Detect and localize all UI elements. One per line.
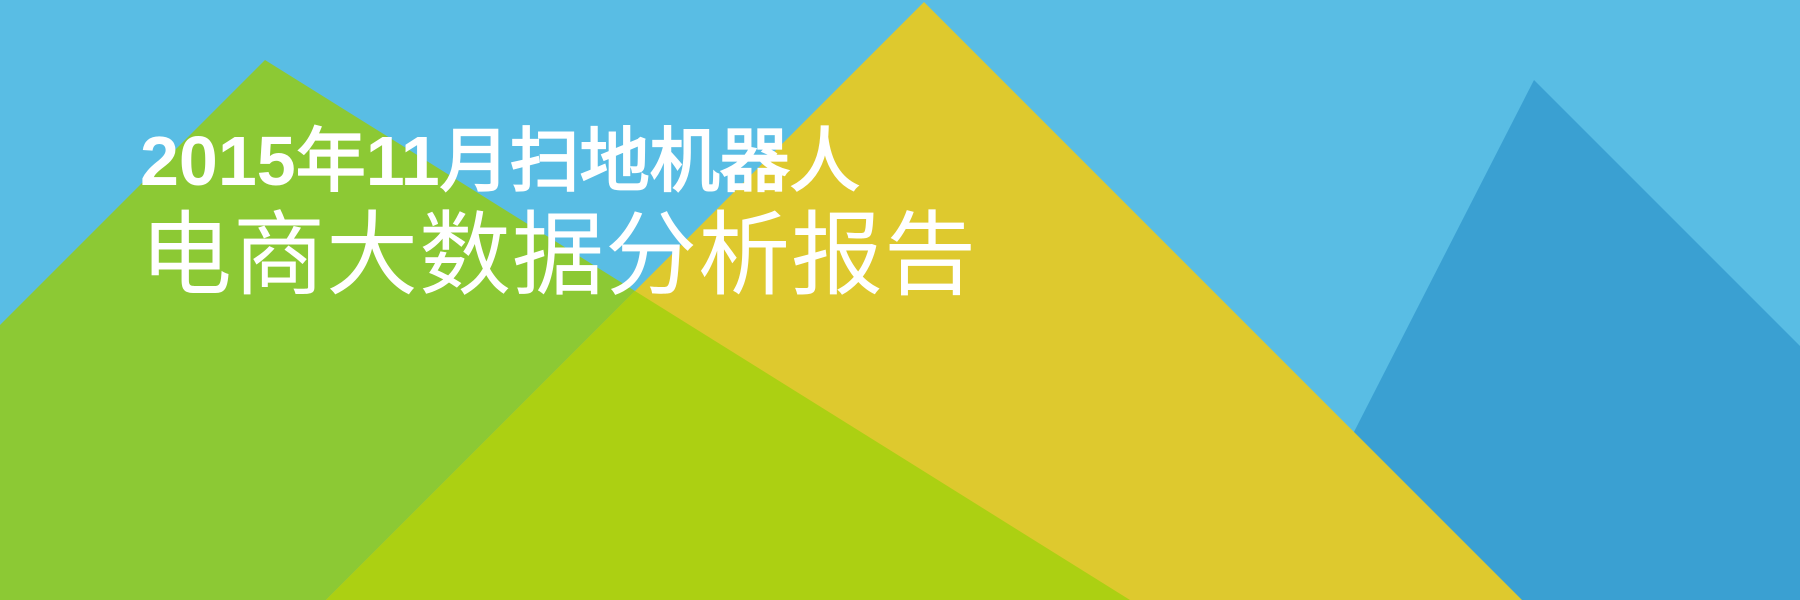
banner-title-line-2: 电商大数据分析报告 (140, 210, 977, 302)
report-cover-banner: 2015年11月扫地机器人 电商大数据分析报告 (0, 0, 1800, 600)
banner-title-line-1: 2015年11月扫地机器人 (140, 126, 977, 196)
banner-title-block: 2015年11月扫地机器人 电商大数据分析报告 (140, 126, 977, 302)
